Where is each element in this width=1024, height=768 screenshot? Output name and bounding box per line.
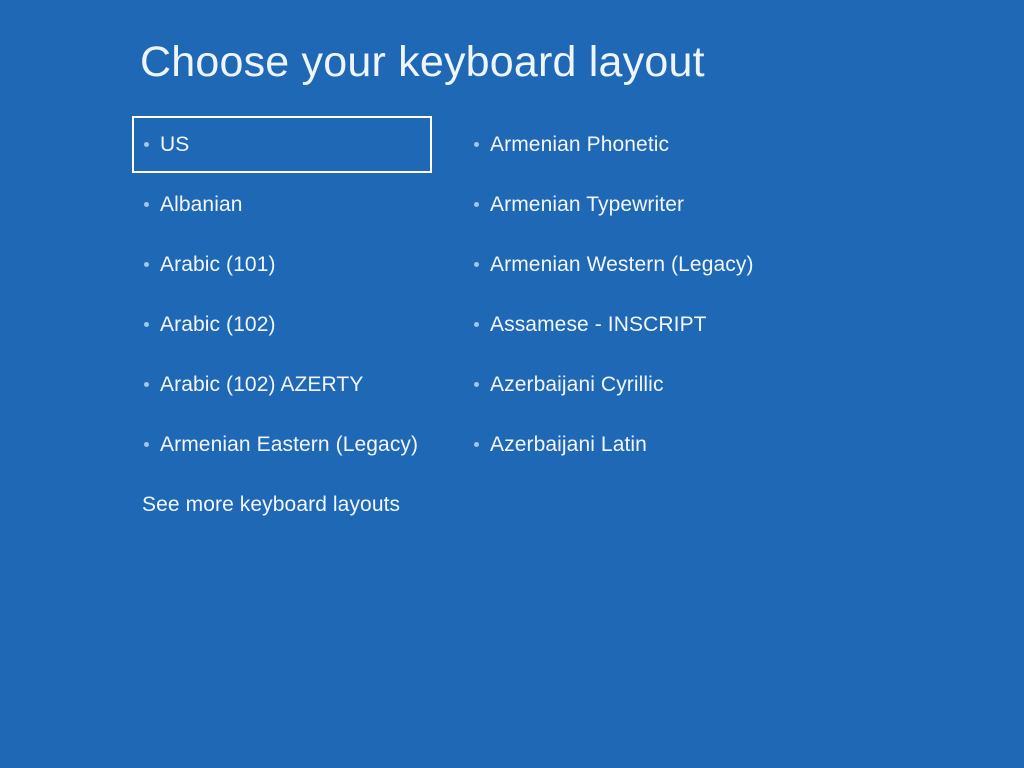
keyboard-layout-item[interactable]: Azerbaijani Cyrillic [462, 356, 792, 413]
bullet-dot-icon [144, 442, 149, 447]
keyboard-layout-item-label: Assamese - INSCRIPT [490, 313, 707, 337]
keyboard-layout-item[interactable]: Arabic (101) [132, 236, 432, 293]
keyboard-layout-item-label: Azerbaijani Cyrillic [490, 373, 664, 397]
bullet-dot-icon [474, 442, 479, 447]
keyboard-layout-item-label: Armenian Western (Legacy) [490, 253, 754, 277]
bullet-dot-icon [144, 262, 149, 267]
bullet-dot-icon [474, 202, 479, 207]
see-more-keyboard-layouts-link[interactable]: See more keyboard layouts [142, 492, 400, 518]
keyboard-layout-item-label: Arabic (102) AZERTY [160, 373, 363, 397]
bullet-dot-icon [474, 382, 479, 387]
bullet-dot-icon [474, 142, 479, 147]
keyboard-layout-item[interactable]: Armenian Typewriter [462, 176, 792, 233]
keyboard-layout-item[interactable]: Arabic (102) AZERTY [132, 356, 432, 413]
keyboard-layout-item[interactable]: Azerbaijani Latin [462, 416, 792, 473]
keyboard-layout-screen: Choose your keyboard layout USAlbanianAr… [0, 0, 1024, 768]
bullet-dot-icon [144, 322, 149, 327]
keyboard-layout-item-label: Arabic (102) [160, 313, 276, 337]
keyboard-layout-item-label: Albanian [160, 193, 243, 217]
keyboard-layout-item[interactable]: Armenian Eastern (Legacy) [132, 416, 432, 473]
bullet-dot-icon [144, 202, 149, 207]
keyboard-layout-item[interactable]: US [132, 116, 432, 173]
bullet-dot-icon [474, 322, 479, 327]
keyboard-layout-item-label: Armenian Eastern (Legacy) [160, 433, 418, 457]
keyboard-layout-item-label: US [160, 133, 189, 157]
keyboard-layout-item[interactable]: Armenian Phonetic [462, 116, 792, 173]
keyboard-layout-item[interactable]: Armenian Western (Legacy) [462, 236, 792, 293]
keyboard-layout-item-label: Armenian Typewriter [490, 193, 684, 217]
keyboard-layout-item-label: Arabic (101) [160, 253, 276, 277]
bullet-dot-icon [144, 142, 149, 147]
keyboard-layout-item[interactable]: Albanian [132, 176, 432, 233]
page-title: Choose your keyboard layout [140, 36, 705, 88]
keyboard-layout-item-label: Armenian Phonetic [490, 133, 669, 157]
keyboard-layout-item[interactable]: Assamese - INSCRIPT [462, 296, 792, 353]
bullet-dot-icon [474, 262, 479, 267]
bullet-dot-icon [144, 382, 149, 387]
keyboard-layout-item-label: Azerbaijani Latin [490, 433, 647, 457]
keyboard-layout-item[interactable]: Arabic (102) [132, 296, 432, 353]
